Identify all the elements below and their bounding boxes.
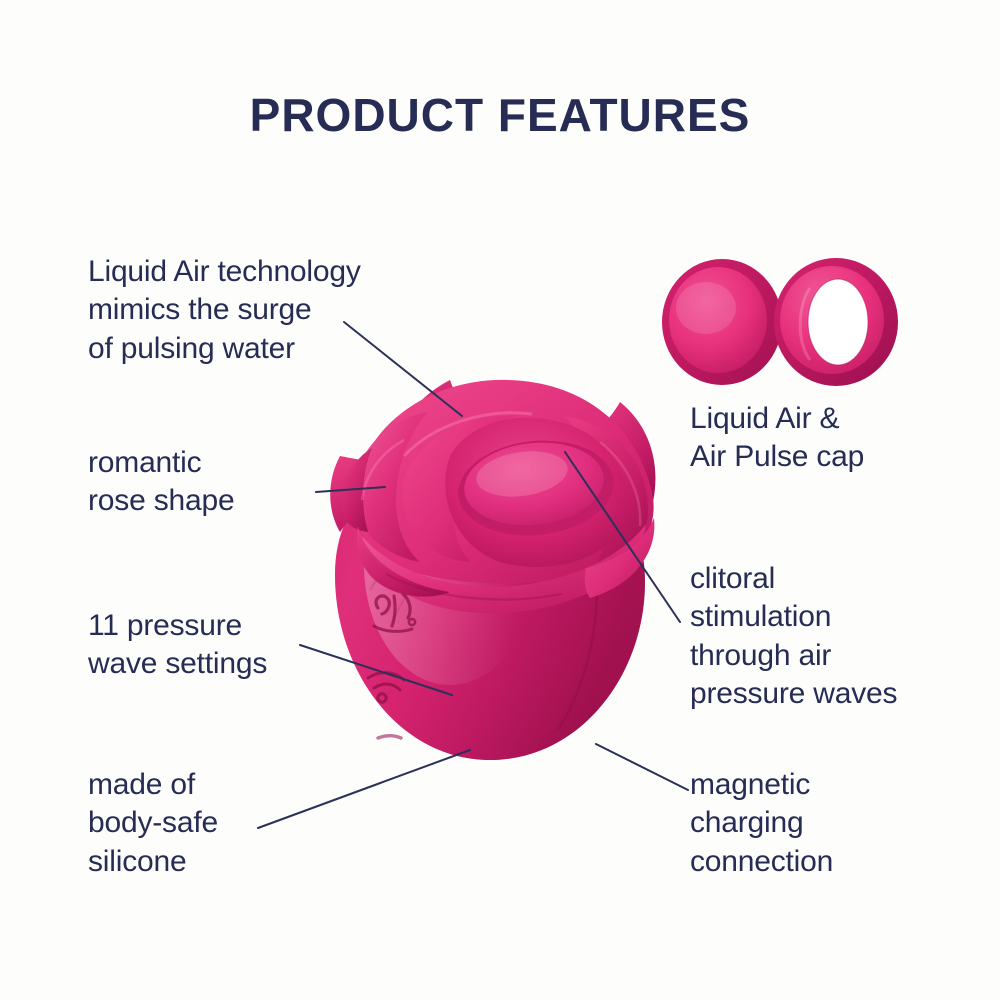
air-pulse-cap bbox=[774, 258, 898, 386]
product-features-infographic: PRODUCT FEATURES bbox=[0, 0, 1000, 1000]
product-illustration bbox=[300, 360, 680, 780]
callout-body-safe-silicone: made of body-safe silicone bbox=[88, 766, 348, 881]
callout-liquid-air-and-air-pulse-cap: Liquid Air & Air Pulse cap bbox=[690, 400, 970, 477]
callout-liquid-air-technology: Liquid Air technology mimics the surge o… bbox=[88, 253, 418, 368]
callout-pressure-wave-settings: 11 pressure wave settings bbox=[88, 607, 368, 684]
rose-petal-crown bbox=[330, 380, 655, 613]
caps-illustration bbox=[660, 252, 910, 397]
bottom-mark-emboss bbox=[378, 736, 401, 738]
page-title: PRODUCT FEATURES bbox=[0, 88, 1000, 142]
callout-magnetic-charging-connection: magnetic charging connection bbox=[690, 766, 970, 881]
callout-romantic-rose-shape: romantic rose shape bbox=[88, 444, 368, 521]
liquid-air-cap bbox=[662, 259, 782, 385]
callout-clitoral-stimulation: clitoral stimulation through air pressur… bbox=[690, 560, 980, 714]
